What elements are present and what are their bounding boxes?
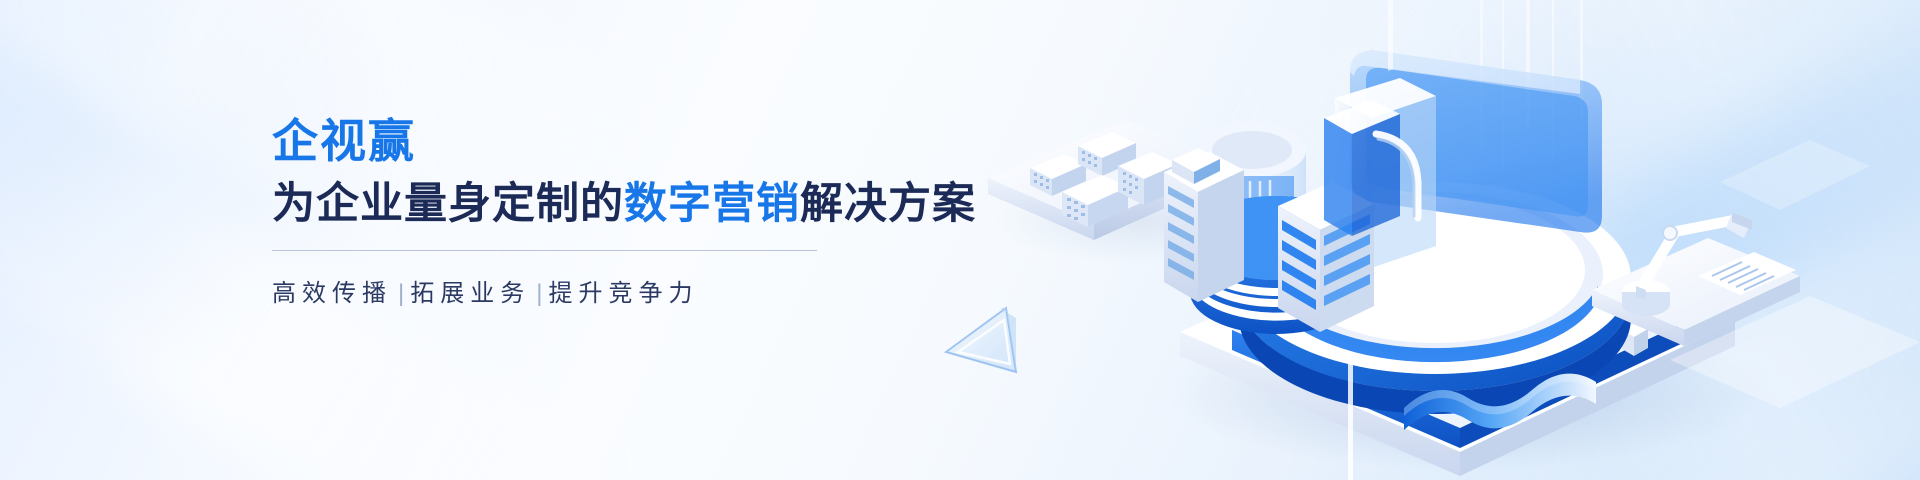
feature-separator: | bbox=[392, 280, 410, 307]
divider-rule bbox=[272, 250, 817, 251]
copy-block: 企视赢 为企业量身定制的数字营销解决方案 高效传播|拓展业务|提升竞争力 bbox=[272, 118, 912, 308]
feature-list: 高效传播|拓展业务|提升竞争力 bbox=[272, 273, 912, 308]
headline-lead: 为企业量身定制的 bbox=[272, 180, 624, 228]
marketing-banner: 企视赢 为企业量身定制的数字营销解决方案 高效传播|拓展业务|提升竞争力 bbox=[0, 0, 1920, 480]
hero-illustration bbox=[880, 0, 1920, 480]
feature-item-0: 高效传播 bbox=[272, 280, 392, 307]
headline: 为企业量身定制的数字营销解决方案 bbox=[272, 180, 912, 228]
feature-item-2: 提升竞争力 bbox=[548, 280, 698, 307]
headline-tail: 解决方案 bbox=[800, 180, 976, 228]
feature-item-1: 拓展业务 bbox=[410, 280, 530, 307]
blue-glass-block bbox=[1324, 100, 1400, 236]
striped-tower-left bbox=[1164, 148, 1244, 302]
brand-title: 企视赢 bbox=[272, 118, 912, 164]
glass-triangle bbox=[946, 308, 1016, 372]
headline-highlight: 数字营销 bbox=[624, 180, 800, 228]
feature-separator: | bbox=[530, 280, 548, 307]
